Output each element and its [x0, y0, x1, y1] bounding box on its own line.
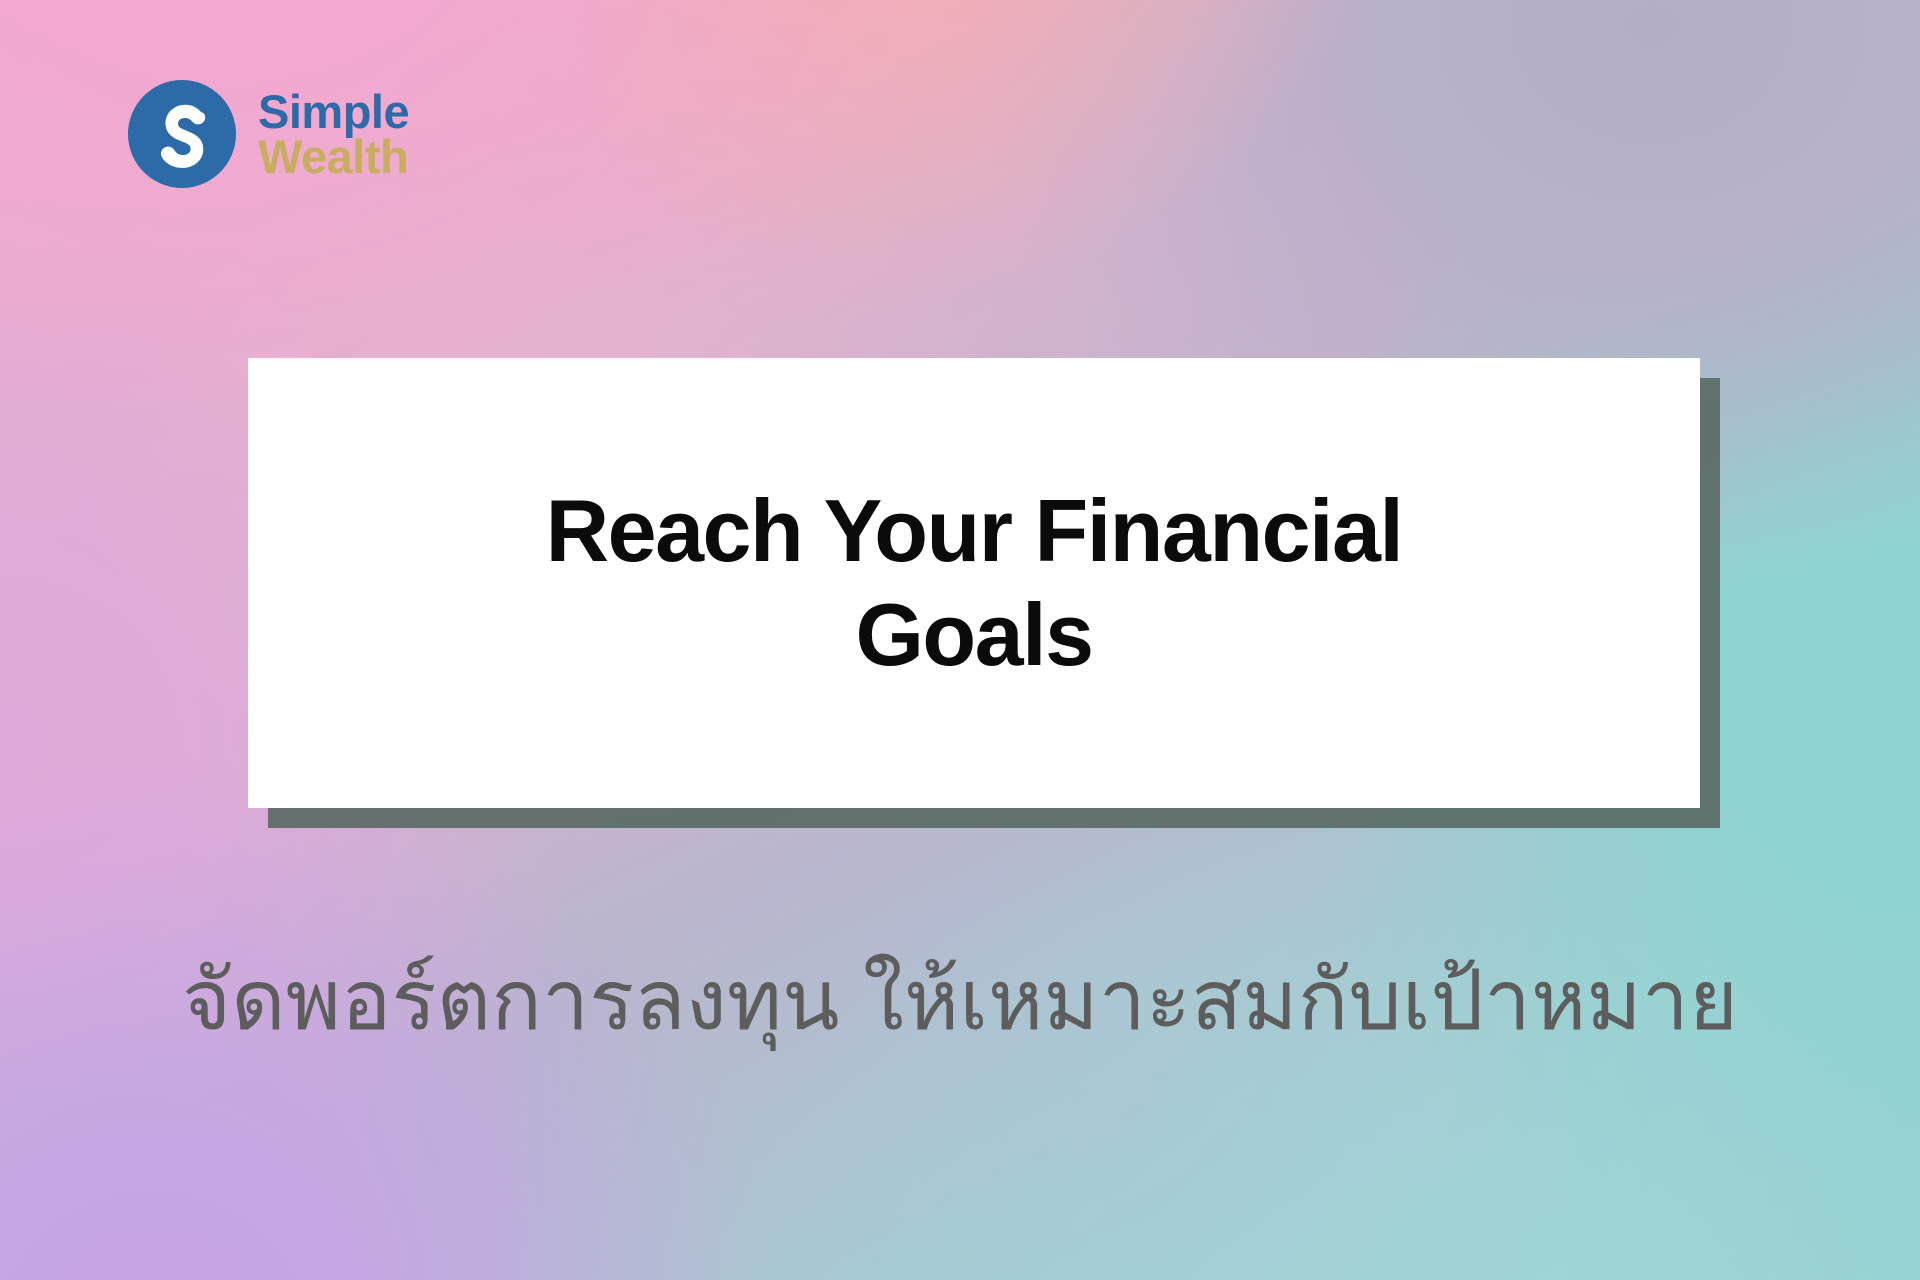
- brand-name-wealth: Wealth: [258, 134, 409, 179]
- simple-wealth-swirl-logo-icon: [128, 80, 236, 188]
- brand-logo-wordmark: Simple Wealth: [258, 89, 409, 179]
- brand-name-simple: Simple: [258, 89, 409, 134]
- thai-caption: จัดพอร์ตการลงทุน ให้เหมาะสมกับเป้าหมาย: [0, 948, 1920, 1053]
- headline-text: Reach Your Financial Goals: [404, 479, 1544, 687]
- headline-card-container: Reach Your Financial Goals: [248, 358, 1700, 808]
- slide-canvas: Simple Wealth Reach Your Financial Goals…: [0, 0, 1920, 1280]
- brand-logo: Simple Wealth: [128, 80, 409, 188]
- headline-card: Reach Your Financial Goals: [248, 358, 1700, 808]
